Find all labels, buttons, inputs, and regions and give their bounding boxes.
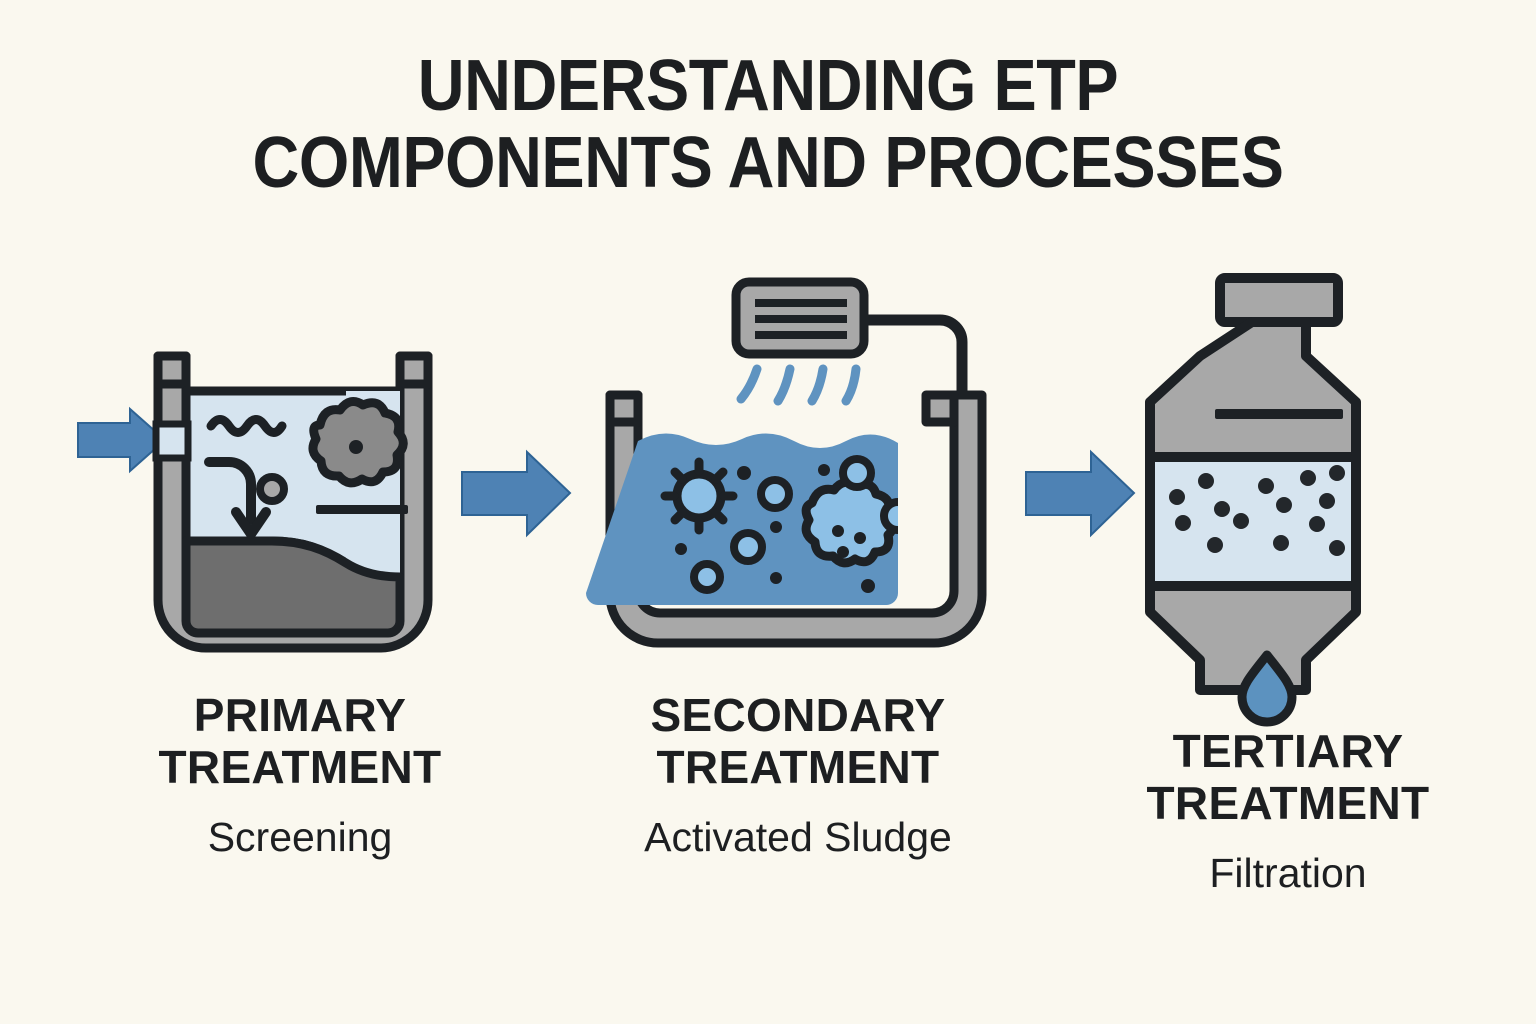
stage-label-primary: PRIMARY TREATMENT Screening	[50, 690, 550, 860]
flow-arrow-primary-to-secondary	[462, 452, 570, 535]
sedimentation-tank-icon	[156, 356, 428, 648]
stage-subtitle-secondary: Activated Sludge	[548, 815, 1048, 860]
stage-label-tertiary: TERTIARY TREATMENT Filtration	[1053, 726, 1523, 896]
floc-icon	[806, 482, 894, 563]
baffle-bar	[316, 505, 408, 514]
microbe-gear-icon	[665, 462, 733, 530]
floc-icon	[313, 401, 403, 482]
stage-heading-secondary-line1: SECONDARY	[548, 690, 1048, 742]
flow-arrow-secondary-to-tertiary	[1026, 452, 1134, 535]
vessel-cap	[1220, 278, 1338, 322]
stage-heading-primary-line2: TREATMENT	[50, 742, 550, 794]
stage-subtitle-primary: Screening	[50, 815, 550, 860]
stage-heading-tertiary-line1: TERTIARY	[1053, 726, 1523, 778]
particle-icon	[260, 477, 284, 501]
process-flow-artwork	[0, 0, 1536, 700]
stage-label-secondary: SECONDARY TREATMENT Activated Sludge	[548, 690, 1048, 860]
inlet-arrow	[78, 409, 165, 471]
filter-vessel-icon	[1150, 278, 1356, 722]
blower-icon	[736, 282, 864, 354]
stage-heading-primary-line1: PRIMARY	[50, 690, 550, 742]
infographic-canvas: UNDERSTANDING ETP COMPONENTS AND PROCESS…	[0, 0, 1536, 1024]
stage-heading-secondary-line2: TREATMENT	[548, 742, 1048, 794]
stage-heading-tertiary-line2: TREATMENT	[1053, 778, 1523, 830]
divider-bar	[1215, 409, 1343, 419]
air-stream-icon	[741, 369, 856, 401]
aeration-tank-icon	[586, 282, 982, 643]
stage-subtitle-tertiary: Filtration	[1053, 851, 1523, 896]
